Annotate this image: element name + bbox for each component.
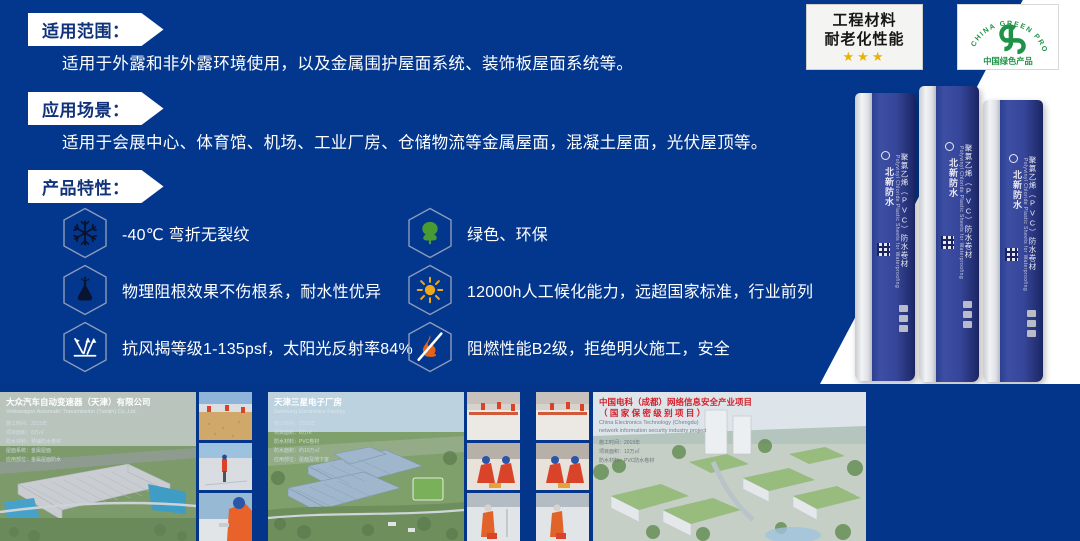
project-bullet: 防水面积：约10万㎡ bbox=[274, 447, 346, 456]
project-bullet: 屋面系统：金属屋面 bbox=[6, 447, 151, 456]
feature-item-eco: 绿色、环保 bbox=[407, 207, 548, 259]
project-bullets: 施工时间：2016年 项目面积：6万㎡ 防水材料：PVC卷材 防水面积：约10万… bbox=[274, 420, 346, 465]
thumbnail[interactable] bbox=[536, 493, 589, 541]
project-title-en: China Electronics Technology (Chengdu) bbox=[599, 419, 752, 427]
no-fire-icon bbox=[407, 321, 453, 373]
section-body-scenario: 适用于会展中心、体育馆、机场、工业厂房、仓储物流等金属屋面，混凝土屋面，光伏屋顶… bbox=[62, 129, 768, 153]
project-bullet: 应用部位：金属屋面防水 bbox=[6, 456, 151, 465]
thumbnail[interactable] bbox=[199, 493, 252, 541]
flask-icon bbox=[62, 264, 108, 316]
roll-product-cn: 聚氯乙烯（PVC）防水卷材 bbox=[1027, 156, 1038, 271]
feature-label: 12000h人工候化能力，远超国家标准，行业前列 bbox=[467, 278, 813, 302]
feature-label: -40℃ 弯折无裂纹 bbox=[122, 221, 250, 245]
project-caption: 大众汽车自动变速器（天津）有限公司 Volkswagen Automatic T… bbox=[6, 397, 151, 465]
project-bullet: 项目面积：6万㎡ bbox=[274, 429, 346, 438]
section-body-scope: 适用于外露和非外露环境使用，以及金属围护屋面系统、装饰板屋面系统等。 bbox=[62, 50, 633, 74]
feature-label: 阻燃性能B2级，拒绝明火施工，安全 bbox=[467, 335, 730, 359]
feature-label: 抗风揭等级1-135psf，太阳光反射率84% bbox=[122, 335, 413, 359]
project-photo-strip: 大众汽车自动变速器（天津）有限公司 Volkswagen Automatic T… bbox=[0, 384, 1080, 541]
thumbnail[interactable] bbox=[467, 443, 520, 491]
project-bullets: 施工时间：2015年 项目面积：8万㎡ 防水材料：预铺防水卷材 屋面系统：金属屋… bbox=[6, 420, 151, 465]
project-bullet: 施工时间：2016年 bbox=[274, 420, 346, 429]
project-caption: 天津三星电子厂房 Samsung Electronics Factory 施工时… bbox=[274, 397, 346, 465]
project-title-cn: 天津三星电子厂房 bbox=[274, 397, 346, 408]
project-panel[interactable]: 中国电科（成都）网络信息安全产业项目 （ 国 家 保 密 级 别 项 目 ） C… bbox=[536, 392, 866, 541]
svg-text:中国绿色产品: 中国绿色产品 bbox=[983, 56, 1033, 66]
thumbnail[interactable] bbox=[536, 392, 589, 440]
thumbnail[interactable] bbox=[467, 392, 520, 440]
product-roll-group: 北新防水 聚氯乙烯（PVC）防水卷材 Polyvinyl Chloride Pl… bbox=[855, 86, 1080, 386]
project-bullet: 防水材料：PVC防水卷材 bbox=[599, 457, 752, 466]
project-bullet: 项目面积：12万㎡ bbox=[599, 448, 752, 457]
feature-item-wind-reflectance: 抗风揭等级1-135psf，太阳光反射率84% bbox=[62, 321, 413, 373]
project-title-cn2: （ 国 家 保 密 级 别 项 目 ） bbox=[599, 408, 752, 419]
green-product-logo-icon: CHINA GREEN PRODUCT 中国绿色产品 bbox=[960, 6, 1056, 68]
sun-icon bbox=[407, 264, 453, 316]
feature-item-flame-retardant: 阻燃性能B2级，拒绝明火施工，安全 bbox=[407, 321, 730, 373]
feature-label: 物理阻根效果不伤根系，耐水性优异 bbox=[122, 278, 381, 302]
product-roll: 北新防水 聚氯乙烯（PVC）防水卷材 Polyvinyl Chloride Pl… bbox=[855, 93, 915, 381]
badge-aging-performance: 工程材料 耐老化性能 ★★★ bbox=[806, 4, 923, 70]
snowflake-icon bbox=[62, 207, 108, 259]
project-bullet: 应用部位：屋面及地下室 bbox=[274, 456, 346, 465]
project-title-en2: network information security industry pr… bbox=[599, 427, 752, 435]
product-roll: 北新防水 聚氯乙烯（PVC）防水卷材 Polyvinyl Chloride Pl… bbox=[983, 100, 1043, 382]
thumbnail[interactable] bbox=[536, 443, 589, 491]
project-bullet: 项目面积：8万㎡ bbox=[6, 429, 151, 438]
slide-canvas: 适用范围： 适用于外露和非外露环境使用，以及金属围护屋面系统、装饰板屋面系统等。… bbox=[0, 0, 1080, 541]
project-bullet: 防水材料：PVC卷材 bbox=[274, 438, 346, 447]
project-thumbnails bbox=[467, 392, 520, 541]
section-label-text: 应用场景： bbox=[42, 96, 130, 121]
project-title-en: Samsung Electronics Factory bbox=[274, 408, 346, 416]
thumbnail[interactable] bbox=[467, 493, 520, 541]
section-label-text: 产品特性： bbox=[42, 174, 130, 199]
feature-item-root-resistance: 物理阻根效果不伤根系，耐水性优异 bbox=[62, 264, 381, 316]
roll-product-en: Polyvinyl Chloride Plastic Sheets for Wa… bbox=[958, 146, 964, 279]
project-bullets: 施工时间：2019年 项目面积：12万㎡ 防水材料：PVC防水卷材 bbox=[599, 439, 752, 466]
badge-aging-stars: ★★★ bbox=[843, 50, 887, 64]
project-title-cn: 大众汽车自动变速器（天津）有限公司 bbox=[6, 397, 151, 408]
thumbnail[interactable] bbox=[199, 443, 252, 491]
section-label-scenario: 应用场景： bbox=[28, 92, 164, 125]
project-bullet: 施工时间：2015年 bbox=[6, 420, 151, 429]
badge-aging-line2: 耐老化性能 bbox=[824, 30, 904, 49]
reflection-icon bbox=[62, 321, 108, 373]
project-thumbnails bbox=[536, 392, 589, 541]
badge-china-green-product: CHINA GREEN PRODUCT 中国绿色产品 bbox=[957, 4, 1059, 70]
project-thumbnails bbox=[199, 392, 252, 541]
project-title-en: Volkswagen Automatic Transmission (Tianj… bbox=[6, 408, 151, 416]
feature-item-cold-bend: -40℃ 弯折无裂纹 bbox=[62, 207, 250, 259]
badge-aging-line1: 工程材料 bbox=[832, 11, 896, 30]
project-bullet: 防水材料：预铺防水卷材 bbox=[6, 438, 151, 447]
roll-product-cn: 聚氯乙烯（PVC）防水卷材 bbox=[899, 153, 910, 268]
project-panel[interactable]: 天津三星电子厂房 Samsung Electronics Factory 施工时… bbox=[268, 392, 520, 541]
feature-label: 绿色、环保 bbox=[467, 221, 548, 245]
section-label-features: 产品特性： bbox=[28, 170, 164, 203]
project-bullet: 施工时间：2019年 bbox=[599, 439, 752, 448]
roll-product-en: Polyvinyl Chloride Plastic Sheets for Wa… bbox=[1022, 158, 1028, 291]
section-label-scope: 适用范围： bbox=[28, 13, 164, 46]
project-panel[interactable]: 大众汽车自动变速器（天津）有限公司 Volkswagen Automatic T… bbox=[0, 392, 252, 541]
project-caption: 中国电科（成都）网络信息安全产业项目 （ 国 家 保 密 级 别 项 目 ） C… bbox=[599, 397, 752, 466]
project-title-cn: 中国电科（成都）网络信息安全产业项目 bbox=[599, 397, 752, 408]
roll-product-en: Polyvinyl Chloride Plastic Sheets for Wa… bbox=[894, 155, 900, 288]
product-roll: 北新防水 聚氯乙烯（PVC）防水卷材 Polyvinyl Chloride Pl… bbox=[919, 86, 979, 382]
thumbnail[interactable] bbox=[199, 392, 252, 440]
roll-product-cn: 聚氯乙烯（PVC）防水卷材 bbox=[963, 144, 974, 259]
feature-item-weathering: 12000h人工候化能力，远超国家标准，行业前列 bbox=[407, 264, 813, 316]
section-label-text: 适用范围： bbox=[42, 17, 130, 42]
tree-icon bbox=[407, 207, 453, 259]
